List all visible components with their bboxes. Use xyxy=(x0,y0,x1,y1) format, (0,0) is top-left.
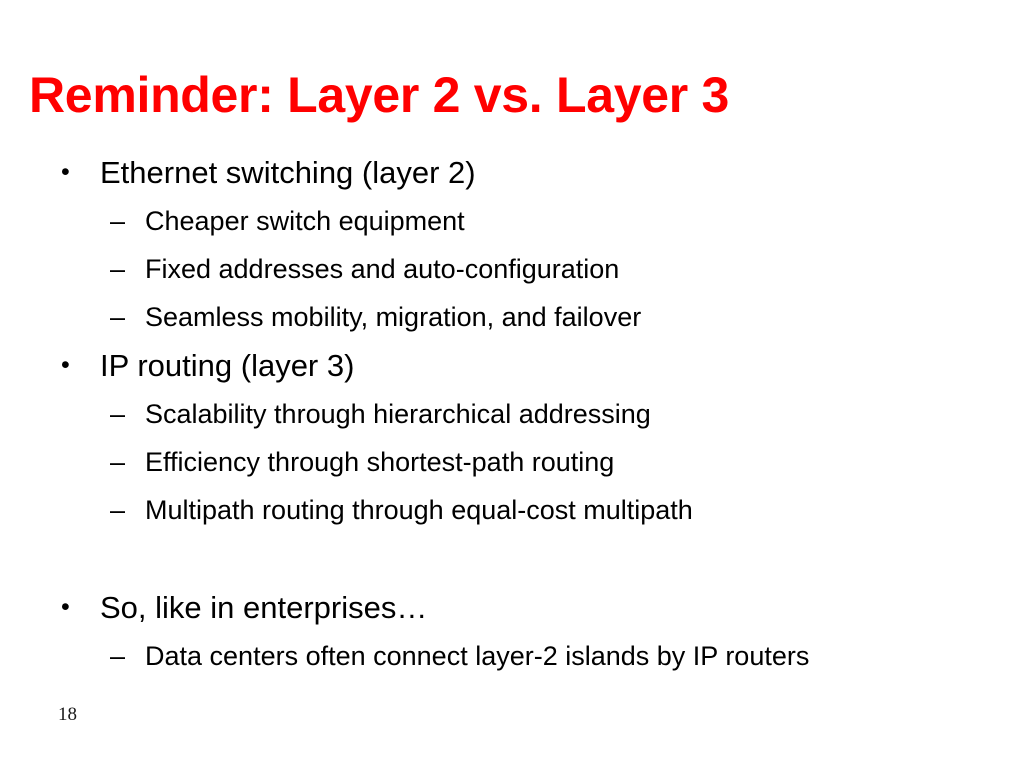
bullet-dot-icon: • xyxy=(57,148,100,197)
bullet-dash-icon: – xyxy=(110,293,145,341)
bullet-text: Fixed addresses and auto-configuration xyxy=(145,245,619,293)
bullet-item-level-2: –Efficiency through shortest-path routin… xyxy=(110,438,1024,486)
bullet-text: Efficiency through shortest-path routing xyxy=(145,438,614,486)
bullet-dash-icon: – xyxy=(110,197,145,245)
bullet-dash-icon: – xyxy=(110,632,145,680)
bullet-item-level-2: –Seamless mobility, migration, and failo… xyxy=(110,293,1024,341)
slide-body: •Ethernet switching (layer 2)–Cheaper sw… xyxy=(0,148,1024,680)
bullet-item-level-1: •IP routing (layer 3) xyxy=(57,341,1024,390)
slide-title: Reminder: Layer 2 vs. Layer 3 xyxy=(29,66,989,124)
bullet-text: Multipath routing through equal-cost mul… xyxy=(145,486,693,534)
bullet-text: Scalability through hierarchical address… xyxy=(145,390,651,438)
bullet-dash-icon: – xyxy=(110,486,145,534)
bullet-item-level-1: •So, like in enterprises… xyxy=(57,583,1024,632)
bullet-text: Ethernet switching (layer 2) xyxy=(100,148,1024,197)
bullet-dash-icon: – xyxy=(110,438,145,486)
bullet-text: IP routing (layer 3) xyxy=(100,341,1024,390)
bullet-dot-icon: • xyxy=(57,341,100,390)
page-number: 18 xyxy=(58,704,77,726)
bullet-item-level-1: •Ethernet switching (layer 2) xyxy=(57,148,1024,197)
bullet-text: Cheaper switch equipment xyxy=(145,197,465,245)
bullet-item-level-2: –Multipath routing through equal-cost mu… xyxy=(110,486,1024,534)
bullet-text: So, like in enterprises… xyxy=(100,583,1024,632)
bullet-dot-icon: • xyxy=(57,583,100,632)
bullet-item-level-2: –Data centers often connect layer-2 isla… xyxy=(110,632,1024,680)
bullet-spacer xyxy=(0,534,1024,583)
bullet-item-level-2: –Scalability through hierarchical addres… xyxy=(110,390,1024,438)
slide: Reminder: Layer 2 vs. Layer 3 •Ethernet … xyxy=(0,0,1024,768)
bullet-item-level-2: –Fixed addresses and auto-configuration xyxy=(110,245,1024,293)
bullet-dash-icon: – xyxy=(110,245,145,293)
bullet-text: Data centers often connect layer-2 islan… xyxy=(145,632,809,680)
bullet-dash-icon: – xyxy=(110,390,145,438)
bullet-item-level-2: –Cheaper switch equipment xyxy=(110,197,1024,245)
bullet-text: Seamless mobility, migration, and failov… xyxy=(145,293,641,341)
